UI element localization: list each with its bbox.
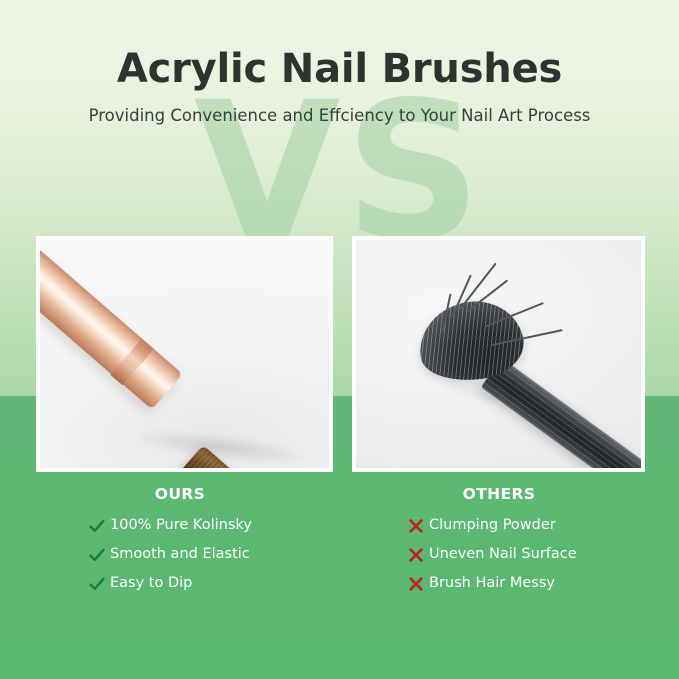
list-item: Smooth and Elastic — [88, 541, 330, 568]
brush-handle — [40, 240, 183, 409]
feature-list-others: Clumping Powder Uneven Nail Surface — [349, 512, 649, 597]
list-item-label: Clumping Powder — [429, 512, 556, 539]
product-photo-others — [356, 240, 641, 468]
list-item: 100% Pure Kolinsky — [88, 512, 330, 539]
list-item: Easy to Dip — [88, 570, 330, 597]
comparison-columns: OURS 100% Pure Kolinsky — [0, 484, 679, 604]
list-item: Clumping Powder — [407, 512, 649, 539]
list-item-label: Smooth and Elastic — [110, 541, 250, 568]
shaft-highlight-lines — [481, 358, 641, 468]
feature-list-ours: 100% Pure Kolinsky Smooth and Elastic — [30, 512, 330, 597]
column-heading-ours: OURS — [30, 484, 330, 504]
photo-panel-others — [352, 236, 645, 472]
photo-panel-ours — [36, 236, 333, 472]
page-subtitle: Providing Convenience and Effciency to Y… — [0, 102, 679, 130]
check-icon — [88, 517, 110, 535]
list-item-label: Uneven Nail Surface — [429, 541, 577, 568]
comparison-column-others: OTHERS Clumping Powder — [349, 484, 649, 599]
list-item: Brush Hair Messy — [407, 570, 649, 597]
check-icon — [88, 546, 110, 564]
list-item-label: Brush Hair Messy — [429, 570, 555, 597]
cross-icon — [407, 575, 429, 593]
cross-icon — [407, 546, 429, 564]
page-title: Acrylic Nail Brushes — [0, 44, 679, 94]
check-icon — [88, 575, 110, 593]
product-photo-ours — [40, 240, 329, 468]
list-item: Uneven Nail Surface — [407, 541, 649, 568]
column-heading-others: OTHERS — [349, 484, 649, 504]
product-comparison-infographic: VS Acrylic Nail Brushes Providing Conven… — [0, 0, 679, 679]
brush-ferrule — [111, 338, 155, 385]
list-item-label: Easy to Dip — [110, 570, 192, 597]
list-item-label: 100% Pure Kolinsky — [110, 512, 252, 539]
comparison-column-ours: OURS 100% Pure Kolinsky — [30, 484, 330, 599]
header: Acrylic Nail Brushes Providing Convenien… — [0, 44, 679, 130]
brush-shaft — [481, 358, 641, 468]
cross-icon — [407, 517, 429, 535]
